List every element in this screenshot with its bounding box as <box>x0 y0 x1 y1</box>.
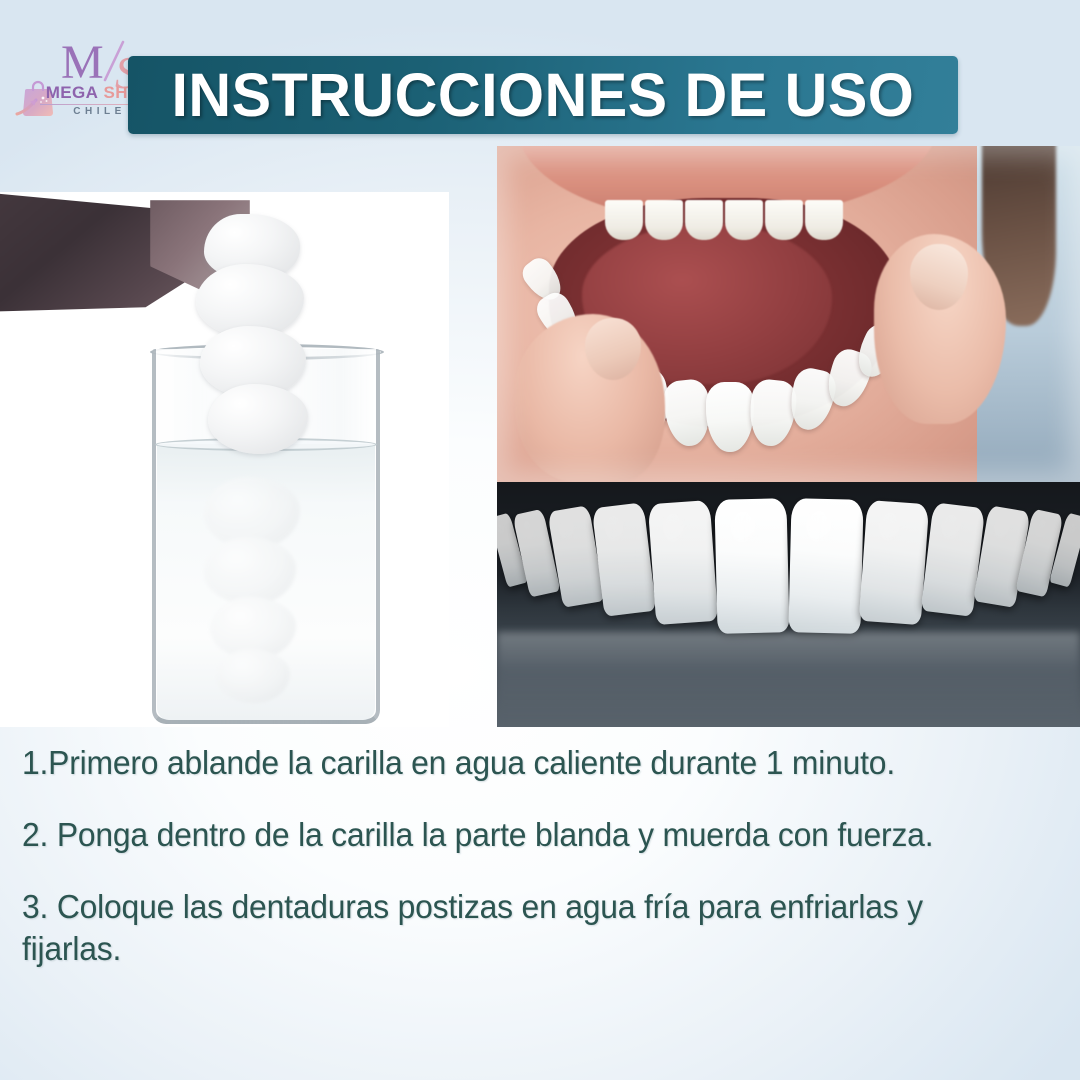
instructions-list: 1.Primero ablande la carilla en agua cal… <box>22 742 1068 970</box>
page-title: INSTRUCCIONES DE USO <box>172 65 915 126</box>
page-title-banner: INSTRUCCIONES DE USO <box>128 56 958 134</box>
surface-reflection <box>497 632 1080 727</box>
instruction-step-3: 3. Coloque las dentaduras postizas en ag… <box>22 886 1026 970</box>
photo-veneer-into-mouth <box>497 146 1080 482</box>
instruction-step-1: 1.Primero ablande la carilla en agua cal… <box>22 742 1031 784</box>
instruction-step-2: 2. Ponga dentro de la carilla la parte b… <box>22 814 987 856</box>
veneer-strip <box>190 214 312 474</box>
instructions-page: M S MEGA SHOP CHILE INSTRUCCIONES DE USO <box>0 0 1080 1080</box>
veneer-submerged <box>200 477 306 707</box>
svg-text:M: M <box>61 36 104 89</box>
photo-denture-closeup <box>497 482 1080 727</box>
photo-veneer-in-water-glass <box>0 192 449 727</box>
brand-name-mega: MEGA <box>46 83 99 102</box>
denture-teeth-row <box>497 490 1080 630</box>
